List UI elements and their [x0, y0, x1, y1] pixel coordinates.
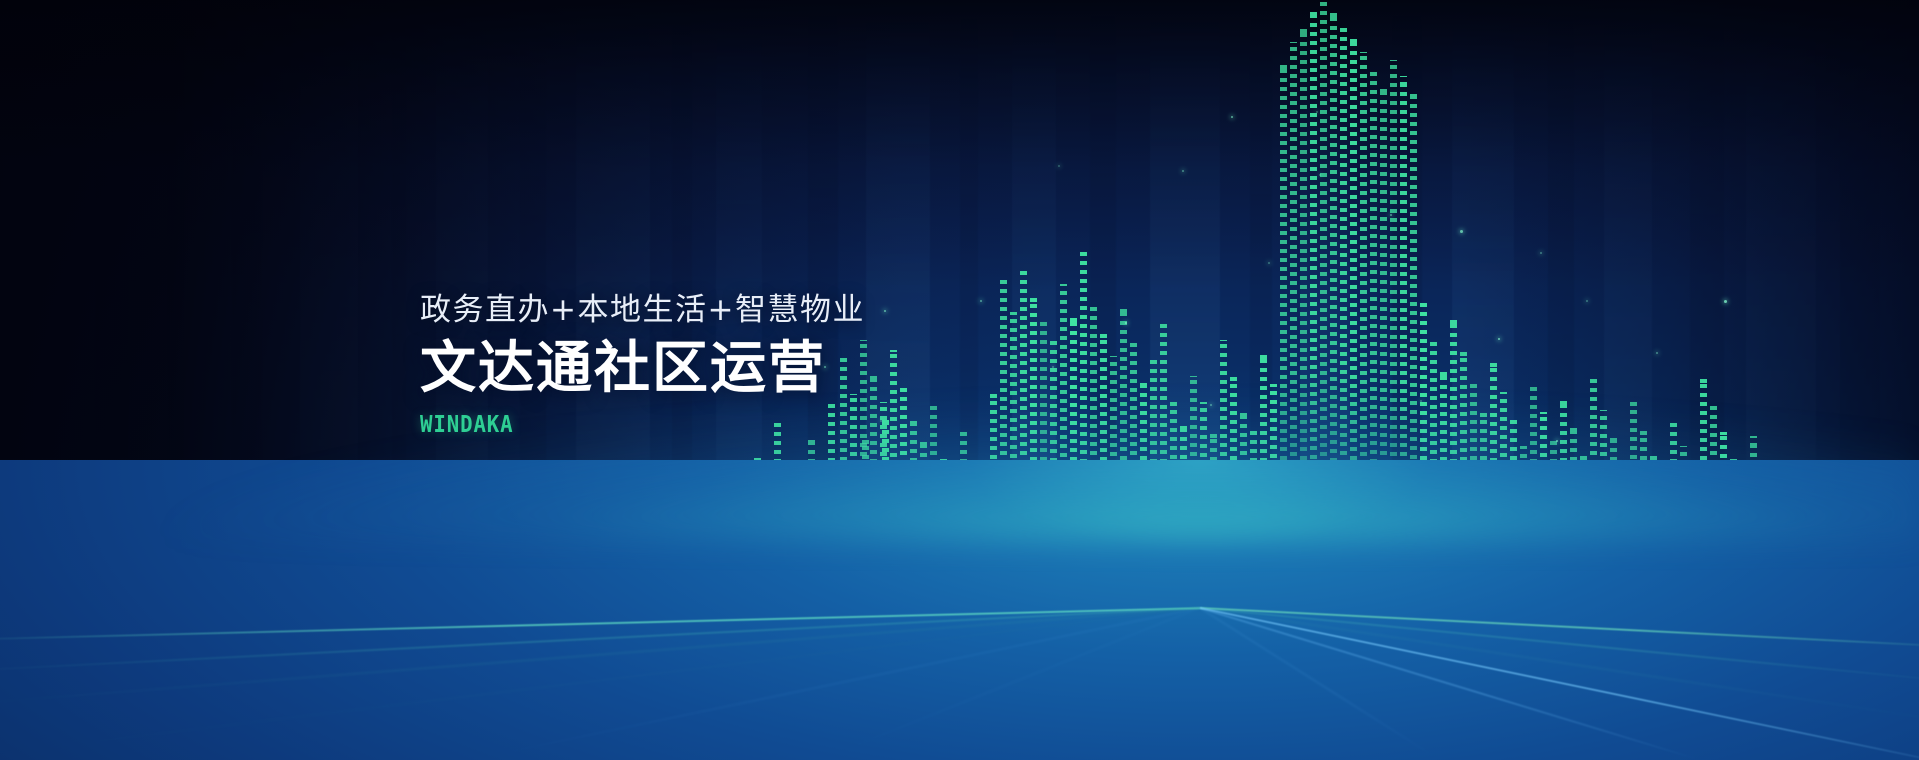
hero-banner: 政务直办+本地生活+智慧物业 文达通社区运营 WINDAKA — [0, 0, 1919, 760]
headline-block: 政务直办+本地生活+智慧物业 文达通社区运营 WINDAKA — [420, 292, 1060, 438]
banner-title: 文达通社区运营 — [420, 335, 1060, 403]
brand-name: WINDAKA — [420, 412, 996, 438]
banner-subtitle: 政务直办+本地生活+智慧物业 — [420, 292, 1060, 329]
